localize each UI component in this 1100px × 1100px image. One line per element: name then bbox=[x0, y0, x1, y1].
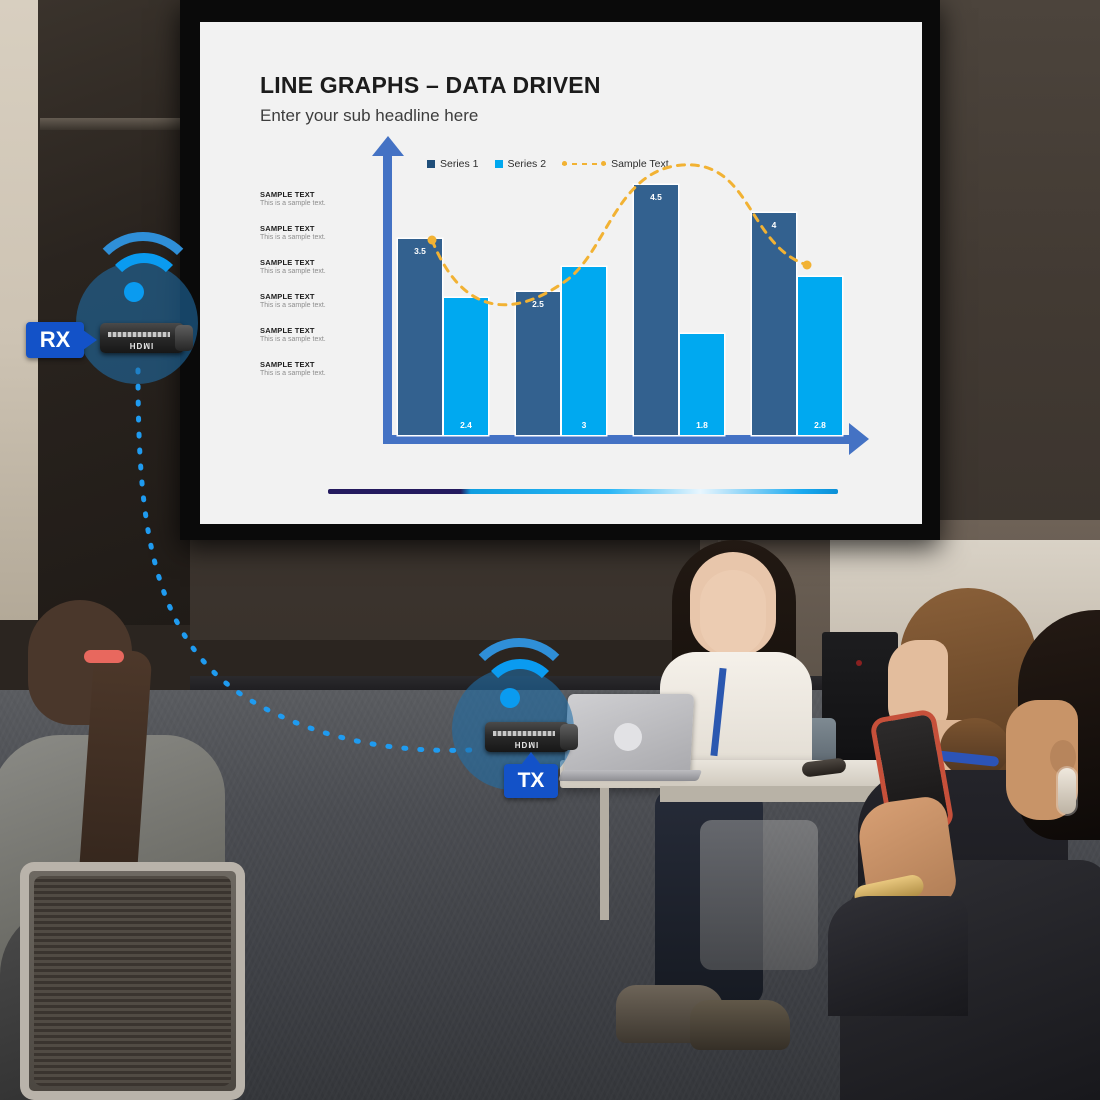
bullet-heading: SAMPLE TEXT bbox=[260, 224, 355, 233]
bar-value-label: 2.5 bbox=[516, 299, 560, 309]
bullet-heading: SAMPLE TEXT bbox=[260, 326, 355, 335]
tx-wifi-dot-icon bbox=[500, 688, 520, 708]
bar-series1: 2.5 bbox=[516, 292, 560, 435]
bar-series1: 4 bbox=[752, 213, 796, 435]
bar-group: 4 2.8 bbox=[752, 152, 848, 435]
bullet-text: This is a sample text. bbox=[260, 268, 355, 275]
bar-series1: 4.5 bbox=[634, 185, 678, 435]
bar-value-label: 4.5 bbox=[634, 192, 678, 202]
audience-right-earring bbox=[1058, 768, 1076, 814]
bar-chart: Series 1 Series 2 Sample Text bbox=[365, 152, 885, 462]
dongle-label: HDMI bbox=[495, 740, 559, 749]
presenter-face bbox=[700, 570, 766, 656]
rx-badge-label: RX bbox=[40, 327, 71, 353]
rx-wifi-dot-icon bbox=[124, 282, 144, 302]
projection-screen[interactable]: LINE GRAPHS – DATA DRIVEN Enter your sub… bbox=[200, 22, 922, 524]
bullet-heading: SAMPLE TEXT bbox=[260, 360, 355, 369]
rx-hdmi-dongle: HDMI bbox=[100, 323, 184, 353]
bullet-heading: SAMPLE TEXT bbox=[260, 190, 355, 199]
bar-group: 3.5 2.4 bbox=[398, 152, 494, 435]
alcove-shelf bbox=[40, 118, 190, 130]
projection-screen-frame: LINE GRAPHS – DATA DRIVEN Enter your sub… bbox=[180, 0, 940, 540]
presenter-shoe-right bbox=[690, 1000, 790, 1050]
audience-left-hair-tie bbox=[84, 650, 124, 663]
bar-series2: 3 bbox=[562, 267, 606, 435]
bar-value-label: 4 bbox=[752, 220, 796, 230]
laptop-base bbox=[558, 770, 702, 781]
presenter-chair bbox=[700, 820, 818, 970]
list-item: SAMPLE TEXT This is a sample text. bbox=[260, 190, 355, 207]
office-chair-mesh bbox=[34, 876, 231, 1086]
bullet-text: This is a sample text. bbox=[260, 336, 355, 343]
left-wall bbox=[0, 0, 40, 620]
bar-value-label: 1.8 bbox=[680, 420, 724, 430]
bar-series2: 2.4 bbox=[444, 298, 488, 435]
list-item: SAMPLE TEXT This is a sample text. bbox=[260, 258, 355, 275]
audience-right-sleeve bbox=[828, 896, 968, 1016]
bar-value-label: 3.5 bbox=[398, 246, 442, 256]
presentation-slide: LINE GRAPHS – DATA DRIVEN Enter your sub… bbox=[200, 22, 922, 524]
dongle-cap-icon bbox=[175, 325, 193, 351]
bullet-text: This is a sample text. bbox=[260, 302, 355, 309]
slide-accent-bar bbox=[328, 489, 838, 494]
bar-value-label: 2.4 bbox=[444, 420, 488, 430]
bar-group: 4.5 1.8 bbox=[634, 152, 730, 435]
bar-series2: 2.8 bbox=[798, 277, 842, 435]
tx-badge[interactable]: TX bbox=[504, 764, 558, 798]
slide-subtitle: Enter your sub headline here bbox=[260, 106, 478, 126]
bullet-text: This is a sample text. bbox=[260, 234, 355, 241]
list-item: SAMPLE TEXT This is a sample text. bbox=[260, 292, 355, 309]
list-item: SAMPLE TEXT This is a sample text. bbox=[260, 224, 355, 241]
bar-series1: 3.5 bbox=[398, 239, 442, 435]
bar-value-label: 3 bbox=[562, 420, 606, 430]
list-item: SAMPLE TEXT This is a sample text. bbox=[260, 360, 355, 377]
bar-series2: 1.8 bbox=[680, 334, 724, 435]
dongle-label: HDMI bbox=[110, 341, 174, 350]
bullet-text: This is a sample text. bbox=[260, 370, 355, 377]
bullet-heading: SAMPLE TEXT bbox=[260, 292, 355, 301]
table-leg bbox=[600, 788, 609, 920]
slide-title: LINE GRAPHS – DATA DRIVEN bbox=[260, 72, 601, 99]
dongle-contacts-icon bbox=[108, 332, 170, 337]
tx-hdmi-dongle: HDMI bbox=[485, 722, 569, 752]
bar-group: 2.5 3 bbox=[516, 152, 612, 435]
laptop-logo-icon bbox=[614, 723, 642, 751]
y-axis bbox=[383, 152, 392, 435]
plot-area: 3.5 2.4 2.5 3 bbox=[392, 152, 857, 435]
rack-led-icon bbox=[856, 660, 862, 666]
dongle-cap-icon bbox=[560, 724, 578, 750]
list-item: SAMPLE TEXT This is a sample text. bbox=[260, 326, 355, 343]
bullet-heading: SAMPLE TEXT bbox=[260, 258, 355, 267]
slide-bullet-list: SAMPLE TEXT This is a sample text. SAMPL… bbox=[260, 190, 355, 394]
dongle-contacts-icon bbox=[493, 731, 555, 736]
bullet-text: This is a sample text. bbox=[260, 200, 355, 207]
bar-value-label: 2.8 bbox=[798, 420, 842, 430]
audience-mid-bun bbox=[940, 718, 1010, 778]
x-axis bbox=[383, 435, 853, 444]
tx-badge-label: TX bbox=[518, 769, 545, 793]
rx-badge[interactable]: RX bbox=[26, 322, 84, 358]
screenshot-root: LINE GRAPHS – DATA DRIVEN Enter your sub… bbox=[0, 0, 1100, 1100]
